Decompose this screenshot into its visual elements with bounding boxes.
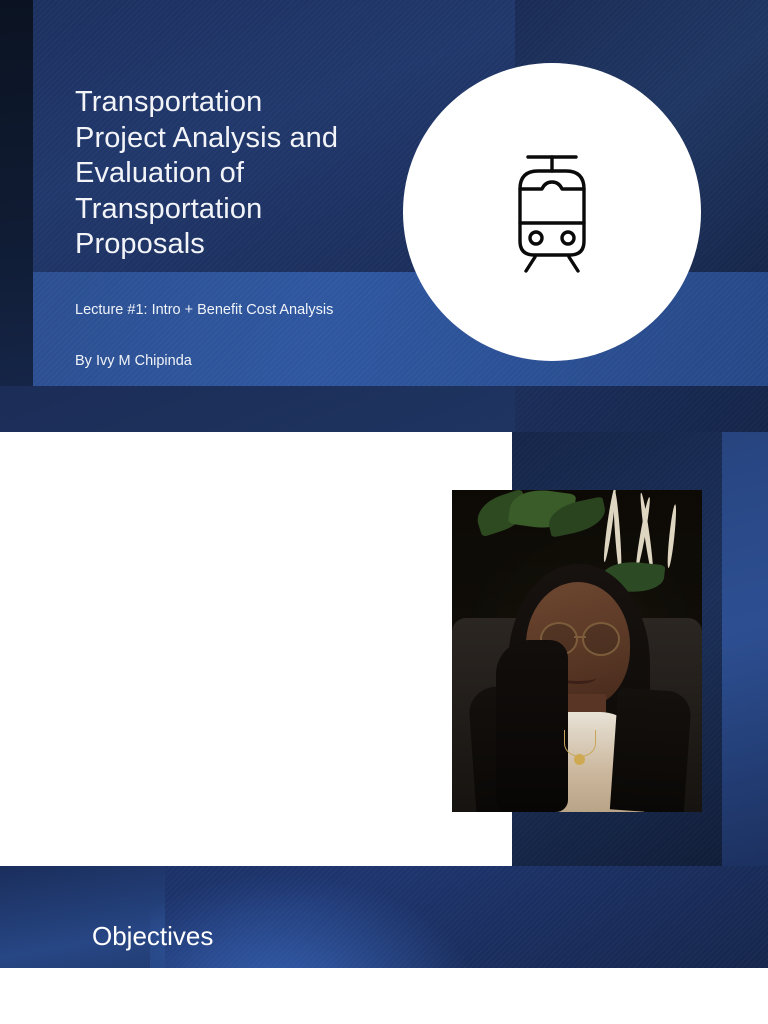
- slide1-subtitle: Lecture #1: Intro + Benefit Cost Analysi…: [75, 301, 375, 320]
- slide-objectives: [0, 866, 768, 968]
- page-title: Transportation Project Analysis and Eval…: [75, 85, 405, 263]
- slide1-byline: By Ivy M Chipinda: [75, 352, 192, 371]
- slide2-accent-stripe: [722, 432, 768, 866]
- tram-icon: [500, 151, 604, 273]
- slide1-lower-band-right: [515, 386, 768, 432]
- objectives-title: Objectives: [92, 920, 213, 952]
- slide1-lower-band-left: [0, 386, 515, 432]
- avatar: [452, 490, 702, 812]
- presentation-page: Transportation Project Analysis and Eval…: [0, 0, 768, 1024]
- slide-instructor: Instructor Ivy M Chipinda Current Job: A…: [0, 432, 768, 866]
- slide2-white-panel: [0, 432, 512, 866]
- slide1-icon-circle: [403, 63, 701, 361]
- slide3-left-panel: [0, 866, 165, 968]
- slide-title: Transportation Project Analysis and Eval…: [0, 0, 768, 432]
- slide1-left-strip: [0, 0, 33, 432]
